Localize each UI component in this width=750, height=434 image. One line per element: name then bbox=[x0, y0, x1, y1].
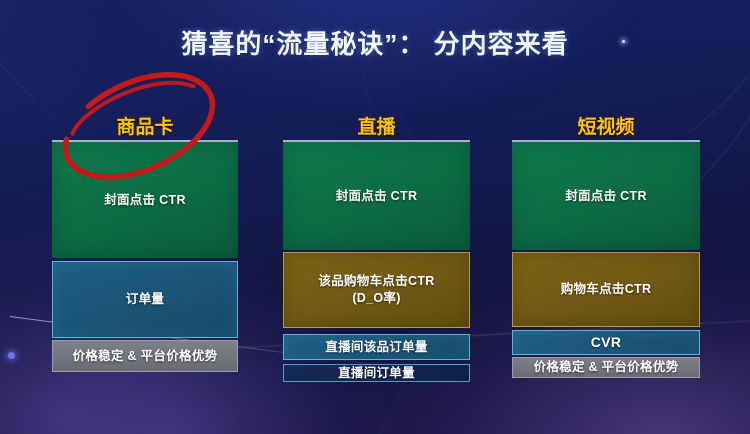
column-header-livestream: 直播 bbox=[283, 112, 470, 139]
metric-box-price-advantage-video[interactable]: 价格稳定 & 平台价格优势 bbox=[512, 357, 700, 378]
metric-box-cart-click-ctr-do-rate[interactable]: 该品购物车点击CTR (D_O率) bbox=[283, 252, 470, 328]
metric-box-cart-click-ctr-video[interactable]: 购物车点击CTR bbox=[512, 252, 700, 327]
column-short-video: 短视频 封面点击 CTR 购物车点击CTR CVR 价格稳定 & 平台价格优势 bbox=[512, 140, 700, 378]
column-header-short-video: 短视频 bbox=[512, 112, 700, 139]
metric-box-cover-click-ctr-live[interactable]: 封面点击 CTR bbox=[283, 140, 470, 250]
metric-box-cover-click-ctr[interactable]: 封面点击 CTR bbox=[52, 140, 238, 258]
column-header-product-card: 商品卡 bbox=[52, 112, 238, 139]
slide-canvas: 猜喜的“流量秘诀”： 分内容来看 商品卡 封面点击 CTR 订单量 价格稳定 &… bbox=[0, 0, 750, 434]
metric-box-price-advantage[interactable]: 价格稳定 & 平台价格优势 bbox=[52, 340, 238, 372]
metric-box-cover-click-ctr-video[interactable]: 封面点击 CTR bbox=[512, 140, 700, 250]
column-livestream: 直播 封面点击 CTR 该品购物车点击CTR (D_O率) 直播间该品订单量 直… bbox=[283, 140, 470, 382]
metric-box-live-product-orders[interactable]: 直播间该品订单量 bbox=[283, 334, 470, 360]
slide-title: 猜喜的“流量秘诀”： 分内容来看 bbox=[0, 24, 750, 61]
metric-box-cvr[interactable]: CVR bbox=[512, 330, 700, 355]
column-product-card: 商品卡 封面点击 CTR 订单量 价格稳定 & 平台价格优势 bbox=[52, 140, 238, 372]
background-dot-left bbox=[8, 352, 15, 359]
metric-box-live-room-orders[interactable]: 直播间订单量 bbox=[283, 364, 470, 382]
metric-box-order-volume[interactable]: 订单量 bbox=[52, 261, 238, 338]
